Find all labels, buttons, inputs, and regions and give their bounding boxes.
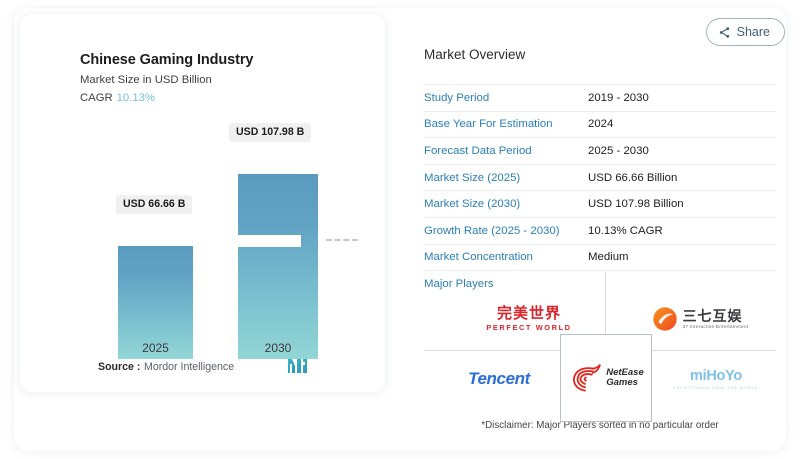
bar-notch-2030 bbox=[238, 235, 301, 247]
value-label-2025: USD 66.66 B bbox=[116, 195, 192, 214]
cagr-value: 10.13% bbox=[117, 92, 155, 104]
logo-tencent: Tencent bbox=[434, 350, 564, 408]
table-row: Market Size (2025) USD 66.66 Billion bbox=[424, 164, 776, 191]
logo-mihoyo: miHoYo TECH OTAKUS SAVE THE WORLD bbox=[656, 350, 776, 408]
market-overview-title: Market Overview bbox=[424, 47, 525, 62]
table-row: Market Size (2030) USD 107.98 Billion bbox=[424, 191, 776, 218]
row-key: Growth Rate (2025 - 2030) bbox=[424, 217, 588, 244]
share-button-label: Share bbox=[737, 25, 770, 39]
perfect-world-en-text: PERFECT WORLD bbox=[486, 323, 571, 332]
table-row: Growth Rate (2025 - 2030) 10.13% CAGR bbox=[424, 217, 776, 244]
row-value: 2025 - 2030 bbox=[588, 138, 776, 165]
tencent-text: Tencent bbox=[468, 369, 530, 389]
bar-2030[interactable] bbox=[238, 174, 318, 359]
row-key: Forecast Data Period bbox=[424, 138, 588, 165]
source-name: Mordor Intelligence bbox=[144, 361, 234, 373]
x-axis-label-2025: 2025 bbox=[118, 341, 193, 355]
row-value: USD 66.66 Billion bbox=[588, 164, 776, 191]
chart-subtitle: Market Size in USD Billion bbox=[80, 74, 212, 86]
mihoyo-text: miHoYo bbox=[690, 368, 742, 384]
mordor-intelligence-logo bbox=[287, 358, 309, 374]
market-overview-table: Study Period 2019 - 2030 Base Year For E… bbox=[424, 84, 776, 297]
row-value: USD 107.98 Billion bbox=[588, 191, 776, 218]
row-key: Market Size (2030) bbox=[424, 191, 588, 218]
netease-phoenix-icon bbox=[568, 362, 602, 394]
row-value: 2024 bbox=[588, 111, 776, 138]
table-row: Market Concentration Medium bbox=[424, 244, 776, 271]
bar-chart-plot: USD 66.66 B USD 107.98 B 2025 2030 bbox=[40, 114, 385, 359]
screenshot-root: Share Chinese Gaming Industry Market Siz… bbox=[0, 0, 800, 459]
share-nodes-icon bbox=[718, 26, 731, 39]
major-players-grid: 完美世界 PERFECT WORLD 三七互娱 37 Interactive E… bbox=[424, 288, 776, 408]
value-label-2030: USD 107.98 B bbox=[229, 123, 311, 142]
37-text-block: 三七互娱 37 Interactive Entertainment bbox=[683, 309, 749, 330]
37-cn-text: 三七互娱 bbox=[683, 309, 749, 324]
row-key: Study Period bbox=[424, 85, 588, 112]
chart-panel: Chinese Gaming Industry Market Size in U… bbox=[20, 14, 385, 392]
row-key: Base Year For Estimation bbox=[424, 111, 588, 138]
row-value: 2019 - 2030 bbox=[588, 85, 776, 112]
chart-cagr: CAGR10.13% bbox=[80, 92, 155, 104]
source-label: Source : bbox=[98, 361, 140, 373]
cagr-label: CAGR bbox=[80, 92, 113, 104]
dashed-connector-line bbox=[326, 239, 358, 241]
chart-title: Chinese Gaming Industry bbox=[80, 52, 253, 68]
mihoyo-tagline: TECH OTAKUS SAVE THE WORLD bbox=[674, 386, 759, 390]
row-key: Market Size (2025) bbox=[424, 164, 588, 191]
grid-divider-vertical-top bbox=[605, 272, 606, 334]
perfect-world-cn-text: 完美世界 bbox=[497, 306, 561, 322]
table-row: Study Period 2019 - 2030 bbox=[424, 85, 776, 112]
37-en-text: 37 Interactive Entertainment bbox=[683, 324, 749, 329]
bars-container: USD 66.66 B USD 107.98 B 2025 2030 bbox=[40, 114, 385, 359]
netease-line2: Games bbox=[606, 378, 644, 388]
netease-text-block: NetEase Games bbox=[606, 368, 644, 389]
row-key: Market Concentration bbox=[424, 244, 588, 271]
source-row: Source : Mordor Intelligence bbox=[40, 358, 369, 380]
logo-netease-games: NetEase Games bbox=[560, 334, 652, 422]
row-value: 10.13% CAGR bbox=[588, 217, 776, 244]
x-axis-label-2030: 2030 bbox=[238, 341, 318, 355]
table-row: Forecast Data Period 2025 - 2030 bbox=[424, 138, 776, 165]
row-value: Medium bbox=[588, 244, 776, 271]
share-button[interactable]: Share bbox=[706, 18, 785, 46]
table-row: Base Year For Estimation 2024 bbox=[424, 111, 776, 138]
37-swirl-icon bbox=[652, 306, 678, 332]
